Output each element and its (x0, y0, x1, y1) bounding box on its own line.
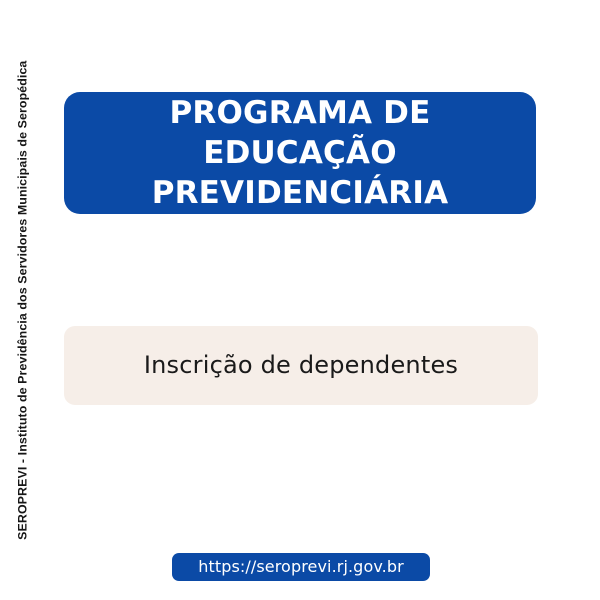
slide-canvas: SEROPREVI - Instituto de Previdência dos… (0, 0, 600, 600)
program-title-banner: PROGRAMA DE EDUCAÇÃO PREVIDENCIÁRIA (64, 92, 536, 214)
program-title-line-2: PREVIDENCIÁRIA (152, 175, 449, 211)
program-title-line-1: PROGRAMA DE EDUCAÇÃO (170, 95, 431, 171)
website-url-pill[interactable]: https://seroprevi.rj.gov.br (172, 553, 430, 581)
program-title-banner-text: PROGRAMA DE EDUCAÇÃO PREVIDENCIÁRIA (88, 93, 512, 214)
vertical-institution-label: SEROPREVI - Instituto de Previdência dos… (0, 0, 46, 600)
topic-subtitle-box: Inscrição de dependentes (64, 326, 538, 405)
vertical-institution-label-text: SEROPREVI - Instituto de Previdência dos… (17, 60, 29, 539)
website-url-text: https://seroprevi.rj.gov.br (198, 559, 404, 575)
topic-subtitle-text: Inscrição de dependentes (144, 351, 458, 380)
